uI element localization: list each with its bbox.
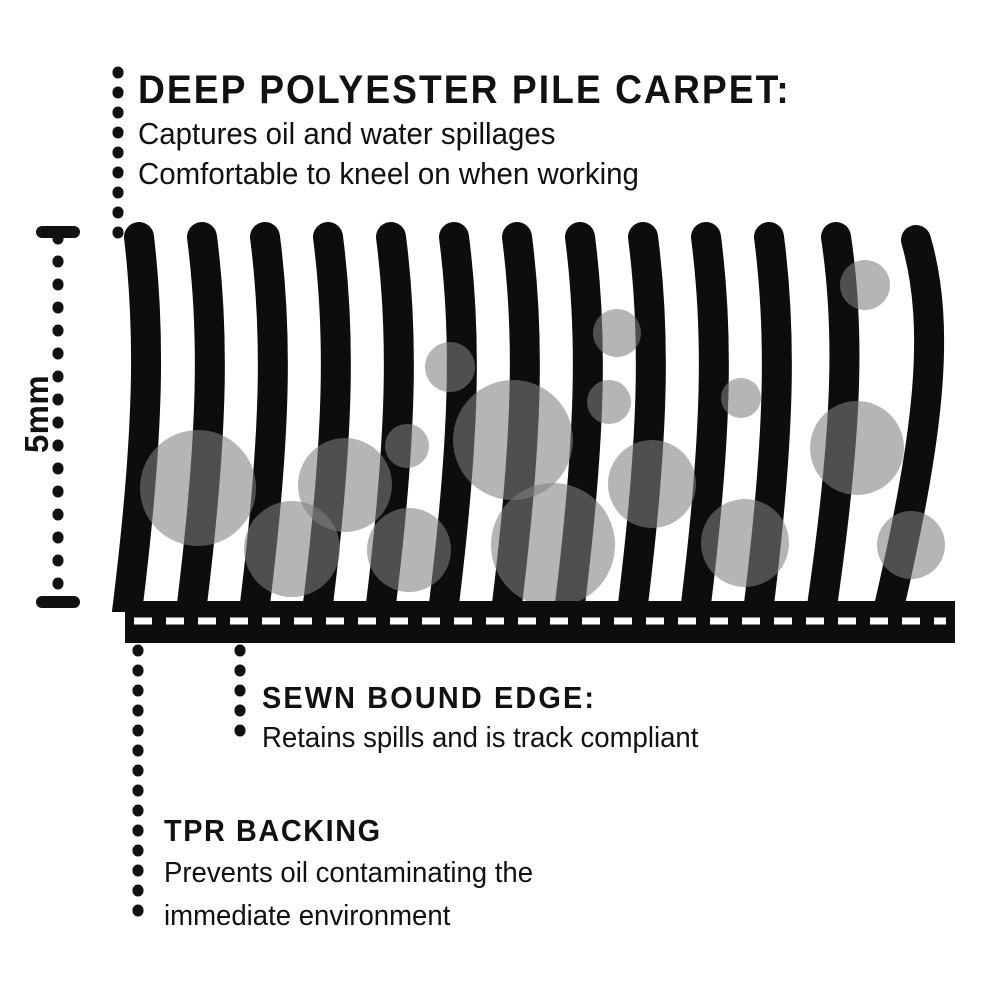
liquid-droplet bbox=[877, 511, 945, 579]
callout-tpr-line-1: Prevents oil contaminating the bbox=[164, 858, 533, 889]
liquid-droplet bbox=[840, 260, 890, 310]
callout-sewn-line-1: Retains spills and is track compliant bbox=[262, 723, 698, 754]
callout-carpet: DEEP POLYESTER PILE CARPET: Captures oil… bbox=[138, 70, 840, 191]
pile-fiber bbox=[190, 237, 210, 620]
callout-sewn-title: SEWN BOUND EDGE: bbox=[262, 682, 689, 713]
callout-sewn-bound-edge: SEWN BOUND EDGE: Retains spills and is t… bbox=[262, 682, 721, 754]
backing-slab bbox=[125, 601, 955, 643]
dimension-cap-bottom bbox=[36, 596, 80, 608]
dimension-label-5mm: 5mm bbox=[18, 369, 56, 459]
callout-tpr-backing: TPR BACKING Prevents oil contaminating t… bbox=[164, 815, 553, 933]
pile-fiber bbox=[126, 237, 146, 620]
callout-carpet-line-1: Captures oil and water spillages bbox=[138, 117, 805, 150]
carpet-pile-group bbox=[126, 237, 945, 620]
callout-carpet-line-2: Comfortable to kneel on when working bbox=[138, 157, 805, 190]
liquid-droplet bbox=[425, 342, 475, 392]
liquid-droplet bbox=[385, 424, 429, 468]
liquid-droplet bbox=[587, 380, 631, 424]
liquid-droplet bbox=[721, 378, 761, 418]
liquid-droplet bbox=[608, 440, 696, 528]
callout-tpr-title: TPR BACKING bbox=[164, 815, 525, 846]
diagram-canvas: DEEP POLYESTER PILE CARPET: Captures oil… bbox=[0, 0, 1000, 1000]
callout-tpr-line-2: immediate environment bbox=[164, 901, 533, 932]
liquid-droplet bbox=[810, 401, 904, 495]
liquid-droplet bbox=[701, 499, 789, 587]
pile-fiber bbox=[631, 237, 651, 620]
tpr-backing-bar bbox=[125, 601, 955, 643]
liquid-droplet bbox=[298, 438, 392, 532]
liquid-droplet bbox=[367, 508, 451, 592]
liquid-droplet bbox=[453, 380, 573, 500]
liquid-droplet bbox=[491, 483, 615, 607]
callout-carpet-title: DEEP POLYESTER PILE CARPET: bbox=[138, 70, 791, 110]
liquid-droplet bbox=[140, 430, 256, 546]
liquid-droplet bbox=[593, 309, 641, 357]
